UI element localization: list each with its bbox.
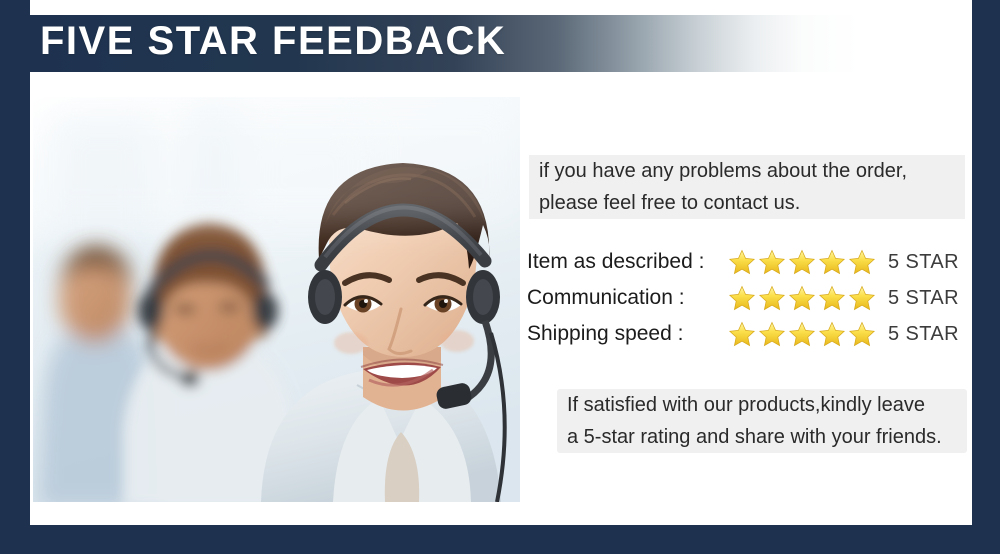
feedback-text-column: if you have any problems about the order… xyxy=(520,97,972,502)
star-icon xyxy=(817,248,847,277)
rating-label: Shipping speed : xyxy=(527,322,727,346)
star-rating-5 xyxy=(727,320,879,349)
contact-note: if you have any problems about the order… xyxy=(529,155,965,219)
star-icon xyxy=(847,284,877,313)
rating-value: 5 STAR xyxy=(888,287,959,310)
star-icon xyxy=(847,320,877,349)
star-icon xyxy=(787,248,817,277)
star-icon xyxy=(817,320,847,349)
customer-service-photo xyxy=(33,97,520,502)
outer-navy-frame: FIVE STAR FEEDBACK xyxy=(0,0,1000,554)
rating-label: Communication : xyxy=(527,286,727,310)
star-icon xyxy=(787,320,817,349)
rating-row: Shipping speed : 5 STAR xyxy=(527,317,972,351)
star-icon xyxy=(727,284,757,313)
rating-label: Item as described : xyxy=(527,250,727,274)
star-icon xyxy=(817,284,847,313)
rating-value: 5 STAR xyxy=(888,323,959,346)
star-rating-5 xyxy=(727,248,879,277)
leave-rating-note: If satisfied with our products,kindly le… xyxy=(557,389,967,453)
header-banner: FIVE STAR FEEDBACK xyxy=(30,15,972,72)
star-rating-5 xyxy=(727,284,879,313)
star-icon xyxy=(787,284,817,313)
star-icon xyxy=(727,248,757,277)
rating-row: Item as described : 5 STAR xyxy=(527,245,972,279)
star-icon xyxy=(757,320,787,349)
star-icon xyxy=(757,284,787,313)
rating-row: Communication : 5 STAR xyxy=(527,281,972,315)
rating-value: 5 STAR xyxy=(888,251,959,274)
star-icon xyxy=(727,320,757,349)
page-title: FIVE STAR FEEDBACK xyxy=(40,19,506,64)
ratings-list: Item as described : 5 STAR Communication… xyxy=(527,245,972,353)
star-icon xyxy=(847,248,877,277)
star-icon xyxy=(757,248,787,277)
